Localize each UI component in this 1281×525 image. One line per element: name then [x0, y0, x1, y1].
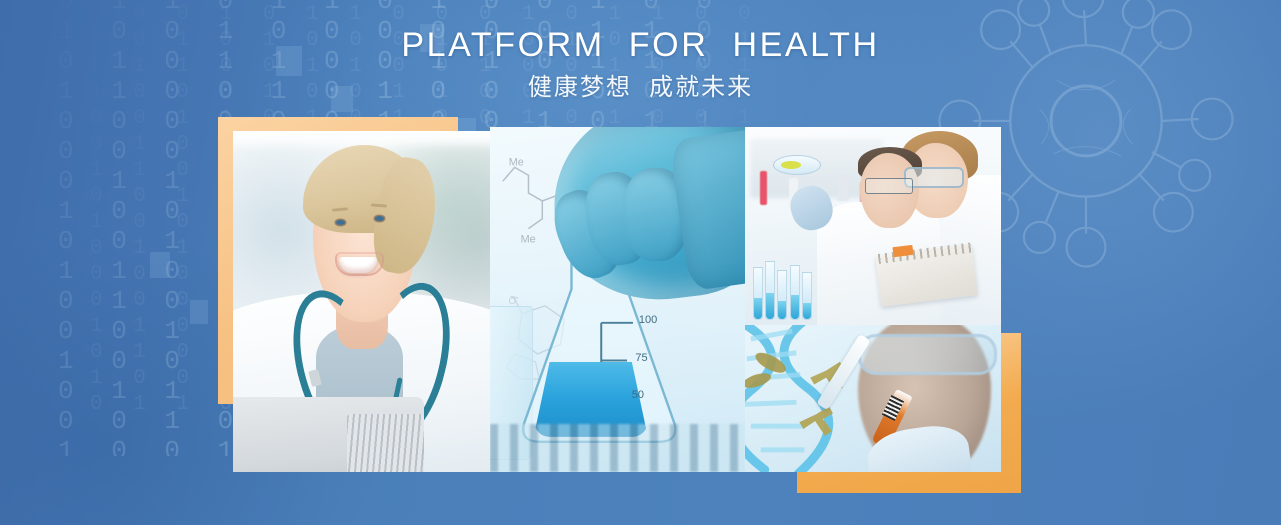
- test-tube: [777, 270, 787, 319]
- two-scientists-lab-photo[interactable]: Two scientists in lab coats examining pe…: [745, 127, 1001, 325]
- smiling-female-doctor-photo[interactable]: Smiling female doctor with stethoscope a…: [233, 131, 491, 472]
- safety-goggles: [858, 334, 997, 375]
- lab-tray: [490, 424, 745, 472]
- flask-graduation-50: 50: [632, 389, 644, 401]
- test-tube-rack: [745, 234, 822, 325]
- reagent-bottle: [760, 171, 767, 205]
- svg-text:Me: Me: [509, 157, 524, 169]
- monitor-vent: [347, 414, 424, 472]
- reagent-bottle: [837, 175, 849, 201]
- flask-graduation-100: 100: [639, 314, 657, 326]
- headline-block: PLATFORM FOR HEALTH 健康梦想 成就未来: [0, 24, 1281, 103]
- test-tube: [765, 261, 775, 319]
- gloved-hand-flask-photo[interactable]: Me Me O O OH O: [490, 127, 745, 472]
- smile-teeth: [339, 257, 377, 273]
- test-tube: [790, 265, 800, 320]
- dna-pipette-photo[interactable]: Researcher with pipette and sample vial …: [745, 325, 1001, 472]
- flask-graduation-75: 75: [635, 352, 647, 364]
- banner-title: PLATFORM FOR HEALTH: [0, 24, 1281, 66]
- banner-subtitle: 健康梦想 成就未来: [0, 73, 1281, 103]
- eye-left: [336, 220, 345, 225]
- test-tube: [753, 267, 763, 320]
- eyeglasses: [865, 178, 913, 194]
- test-tube: [802, 272, 812, 320]
- sample-drop: [781, 161, 801, 169]
- health-platform-banner: 0 1 1 0 1 1 0 1 0 0 1 0 0 1 1 0 1 0 1 0 …: [0, 0, 1281, 525]
